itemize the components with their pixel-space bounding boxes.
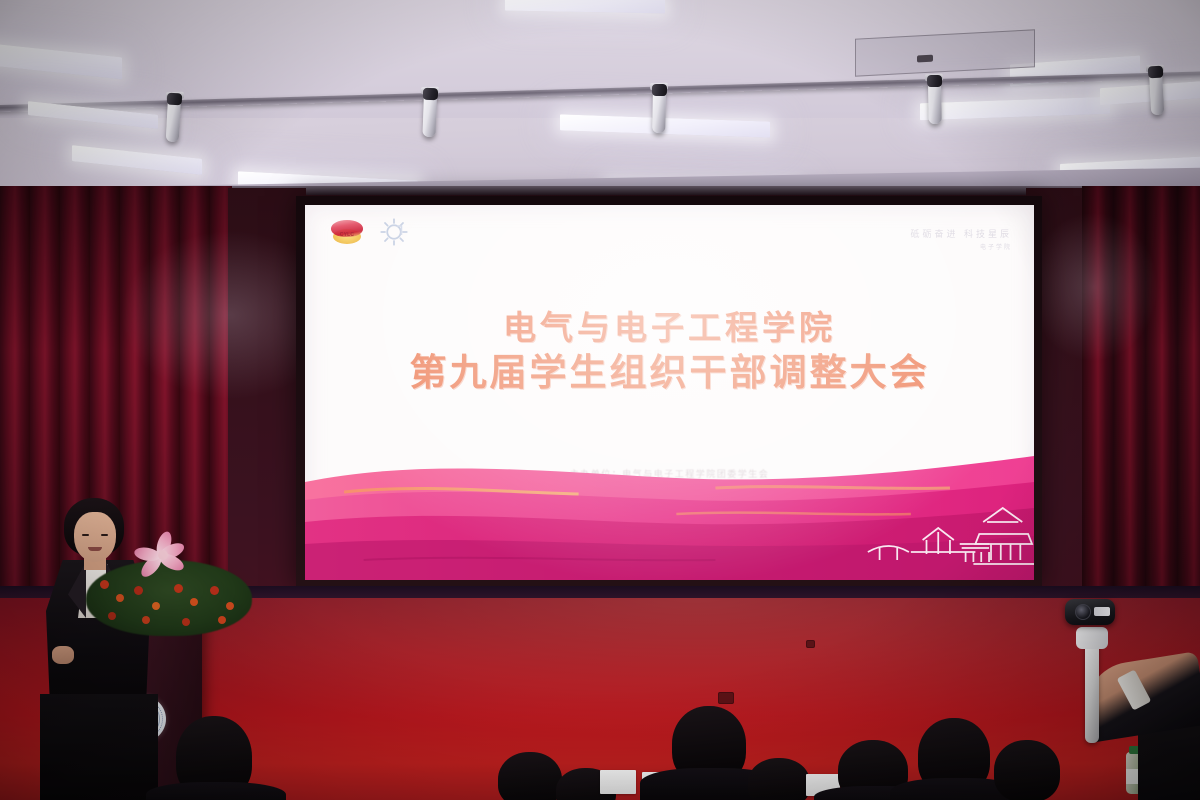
audience-head [498, 752, 562, 800]
watermark-line-2: 电子学院 [910, 242, 1012, 251]
camera-head-icon [1065, 599, 1115, 625]
slide-title: 电气与电子工程学院 第九届学生组织干部调整大会 [305, 308, 1034, 396]
audience-shoulders [146, 782, 286, 800]
lily-flower-icon [138, 532, 190, 578]
track-spotlight-icon [166, 98, 181, 143]
communist-youth-league-emblem-icon: CYLC [331, 217, 363, 247]
floral-arrangement [86, 524, 252, 648]
watermark-line-1: 砥砺奋进 科技星辰 [910, 227, 1012, 240]
handheld-gimbal-camera[interactable] [1063, 595, 1119, 745]
slide-watermark: 砥砺奋进 科技星辰 电子学院 [910, 227, 1012, 251]
track-spotlight-icon [1149, 71, 1164, 116]
slide-title-line-1: 电气与电子工程学院 [305, 308, 1034, 348]
gear-outline-logo-icon [379, 217, 409, 247]
audience-head [994, 740, 1060, 800]
ceiling [0, 0, 1200, 196]
audience-head [748, 758, 810, 800]
slide-logo-group: CYLC [331, 217, 409, 247]
track-spotlight-icon [422, 93, 437, 137]
camera-lens-icon [1075, 604, 1091, 620]
wall-outlet [806, 640, 815, 648]
speaker-hand [52, 646, 74, 664]
led-display-screen[interactable]: CYLC [296, 196, 1042, 590]
track-spotlight-icon [928, 80, 942, 124]
slide-surface: CYLC [305, 205, 1034, 580]
cyl-emblem-caption: CYLC [331, 232, 363, 238]
name-placard [600, 770, 636, 794]
slide-title-line-2: 第九届学生组织干部调整大会 [305, 350, 1034, 396]
conference-stage-photo: CYLC [0, 0, 1200, 800]
ceiling-panel-light [72, 145, 202, 175]
slide-wave-artwork [305, 448, 1034, 580]
track-spotlight-icon [652, 89, 666, 133]
wall-outlet [718, 692, 734, 704]
